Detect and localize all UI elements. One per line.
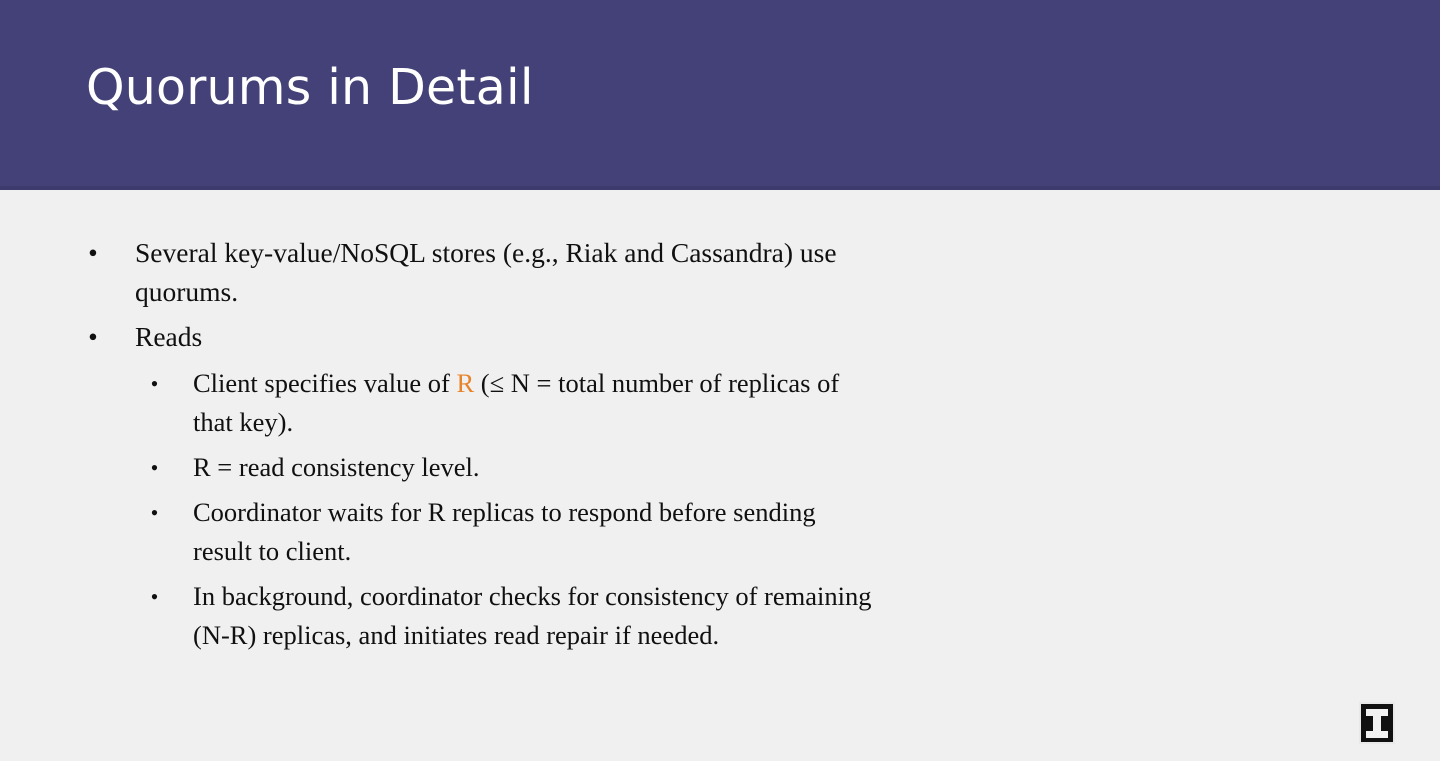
- bullet-marker-icon: •: [88, 318, 98, 357]
- bullet-item-stores: • Several key-value/NoSQL stores (e.g., …: [78, 234, 878, 311]
- sub-bullet-item-coordinator-waits: • Coordinator waits for R replicas to re…: [136, 493, 878, 571]
- illinois-block-i-logo-icon: [1359, 702, 1395, 744]
- bullet-text: Several key-value/NoSQL stores (e.g., Ri…: [135, 237, 837, 307]
- logo-i-bottom-bar: [1366, 731, 1388, 738]
- slide: Quorums in Detail • Several key-value/No…: [0, 0, 1440, 761]
- sub-bullet-item-background-read-repair: • In background, coordinator checks for …: [136, 577, 878, 655]
- sub-bullet-text: Coordinator waits for R replicas to resp…: [193, 497, 816, 566]
- bullet-marker-icon: •: [150, 493, 159, 532]
- slide-title-band: Quorums in Detail: [0, 0, 1440, 190]
- bullet-marker-icon: •: [150, 448, 159, 487]
- bullet-list: • Several key-value/NoSQL stores (e.g., …: [78, 234, 878, 655]
- sub-bullet-item-read-consistency-level: • R = read consistency level.: [136, 448, 878, 487]
- bullet-marker-icon: •: [88, 234, 98, 273]
- logo-glyph: [1364, 707, 1390, 739]
- sub-bullet-item-client-specifies-r: • Client specifies value of R (≤ N = tot…: [136, 364, 878, 442]
- sub-bullet-text: In background, coordinator checks for co…: [193, 581, 871, 650]
- bullet-marker-icon: •: [150, 577, 159, 616]
- slide-body: • Several key-value/NoSQL stores (e.g., …: [0, 190, 1440, 761]
- page-title: Quorums in Detail: [86, 58, 534, 118]
- sub-bullet-text-before: Client specifies value of: [193, 368, 456, 398]
- sub-bullet-list: • Client specifies value of R (≤ N = tot…: [78, 364, 878, 655]
- bullet-marker-icon: •: [150, 364, 159, 403]
- bullet-text: Reads: [135, 321, 202, 352]
- highlighted-term-r: R: [456, 368, 474, 398]
- logo-i-stem: [1373, 715, 1381, 732]
- sub-bullet-text: R = read consistency level.: [193, 452, 479, 482]
- bullet-item-reads: • Reads: [78, 318, 878, 357]
